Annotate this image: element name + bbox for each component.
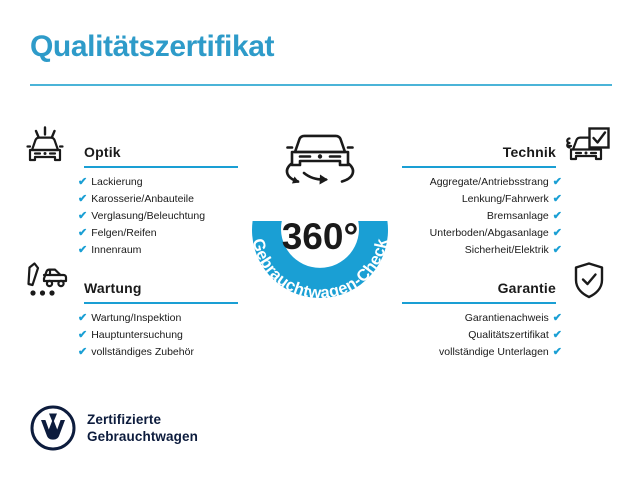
list-item: Aggregate/Antriebsstrang✔: [402, 174, 562, 191]
list-item-label: Verglasung/Beleuchtung: [91, 210, 205, 222]
list-item: Qualitätszertifikat✔: [402, 327, 562, 344]
list-item: ✔Wartung/Inspektion: [78, 310, 238, 327]
section-divider-garantie: [402, 302, 556, 304]
list-item: ✔Felgen/Reifen: [78, 225, 238, 242]
footer-brand: Zertifizierte Gebrauchtwagen: [30, 405, 198, 451]
list-item: ✔vollständiges Zubehör: [78, 344, 238, 361]
list-item: ✔Lackierung: [78, 174, 238, 191]
check-icon: ✔: [78, 329, 87, 341]
section-divider-technik: [402, 166, 556, 168]
checklist-technik: Aggregate/Antriebsstrang✔ Lenkung/Fahrwe…: [402, 174, 614, 259]
list-item-label: Wartung/Inspektion: [91, 312, 181, 324]
vw-logo: [30, 405, 76, 451]
list-item: Unterboden/Abgasanlage✔: [402, 225, 562, 242]
badge-center-label: 360°: [282, 216, 359, 257]
section-wartung: Wartung ✔Wartung/Inspektion ✔Hauptunters…: [26, 262, 238, 361]
check-icon: ✔: [553, 176, 562, 188]
check-icon: ✔: [78, 346, 87, 358]
shield-check-icon: [562, 262, 614, 304]
checklist-wartung: ✔Wartung/Inspektion ✔Hauptuntersuchung ✔…: [26, 310, 238, 361]
check-icon: ✔: [553, 329, 562, 341]
list-item: ✔Verglasung/Beleuchtung: [78, 208, 238, 225]
title-divider: [30, 84, 612, 86]
section-header-wartung: Wartung: [26, 262, 238, 304]
checklist-optik: ✔Lackierung ✔Karosserie/Anbauteile ✔Verg…: [26, 174, 238, 259]
list-item-label: Karosserie/Anbauteile: [91, 193, 194, 205]
list-item: vollständige Unterlagen✔: [402, 344, 562, 361]
section-technik: Technik Aggregate/Antriebsstrang✔ Lenkun…: [402, 126, 614, 259]
page-title: Qualitätszertifikat: [30, 30, 274, 64]
check-icon: ✔: [78, 176, 87, 188]
car-checkbox-icon: [562, 126, 614, 168]
car-shine-icon: [26, 126, 78, 168]
list-item-label: Lackierung: [91, 176, 142, 188]
list-item-label: Bremsanlage: [487, 210, 549, 222]
service-book-pen-icon: [26, 262, 78, 304]
list-item-label: Lenkung/Fahrwerk: [462, 193, 549, 205]
quality-certificate-page: Qualitätszertifikat: [0, 0, 640, 480]
check-icon: ✔: [553, 312, 562, 324]
check-icon: ✔: [78, 312, 87, 324]
check-icon: ✔: [553, 193, 562, 205]
section-header-optik: Optik: [26, 126, 238, 168]
check-icon: ✔: [78, 210, 87, 222]
footer-line-1: Zertifizierte: [87, 411, 198, 428]
list-item: Sicherheit/Elektrik✔: [402, 242, 562, 259]
list-item-label: vollständige Unterlagen: [439, 346, 549, 358]
section-title-optik: Optik: [84, 144, 121, 160]
list-item: ✔Karosserie/Anbauteile: [78, 191, 238, 208]
section-optik: Optik ✔Lackierung ✔Karosserie/Anbauteile…: [26, 126, 238, 259]
section-divider-optik: [84, 166, 238, 168]
list-item: ✔Hauptuntersuchung: [78, 327, 238, 344]
section-title-garantie: Garantie: [498, 280, 556, 296]
list-item-label: Qualitätszertifikat: [468, 329, 549, 341]
list-item-label: Unterboden/Abgasanlage: [430, 227, 549, 239]
check-icon: ✔: [553, 227, 562, 239]
list-item: Bremsanlage✔: [402, 208, 562, 225]
badge-360-gebrauchtwagen-check: 360° Gebrauchtwagen-Check: [228, 118, 412, 314]
list-item-label: Hauptuntersuchung: [91, 329, 183, 341]
list-item: ✔Innenraum: [78, 242, 238, 259]
list-item-label: Garantienachweis: [465, 312, 549, 324]
check-icon: ✔: [553, 244, 562, 256]
section-title-wartung: Wartung: [84, 280, 142, 296]
check-icon: ✔: [553, 210, 562, 222]
check-icon: ✔: [553, 346, 562, 358]
footer-brand-text: Zertifizierte Gebrauchtwagen: [87, 411, 198, 445]
section-title-technik: Technik: [503, 144, 556, 160]
list-item: Lenkung/Fahrwerk✔: [402, 191, 562, 208]
list-item: Garantienachweis✔: [402, 310, 562, 327]
list-item-label: Felgen/Reifen: [91, 227, 156, 239]
car-rotation-icon: [287, 136, 353, 185]
checklist-garantie: Garantienachweis✔ Qualitätszertifikat✔ v…: [402, 310, 614, 361]
footer-line-2: Gebrauchtwagen: [87, 428, 198, 445]
check-icon: ✔: [78, 227, 87, 239]
check-icon: ✔: [78, 244, 87, 256]
list-item-label: Aggregate/Antriebsstrang: [430, 176, 549, 188]
list-item-label: Sicherheit/Elektrik: [465, 244, 549, 256]
list-item-label: vollständiges Zubehör: [91, 346, 194, 358]
check-icon: ✔: [78, 193, 87, 205]
section-divider-wartung: [84, 302, 238, 304]
section-header-garantie: Garantie: [402, 262, 614, 304]
section-header-technik: Technik: [402, 126, 614, 168]
list-item-label: Innenraum: [91, 244, 141, 256]
section-garantie: Garantie Garantienachweis✔ Qualitätszert…: [402, 262, 614, 361]
